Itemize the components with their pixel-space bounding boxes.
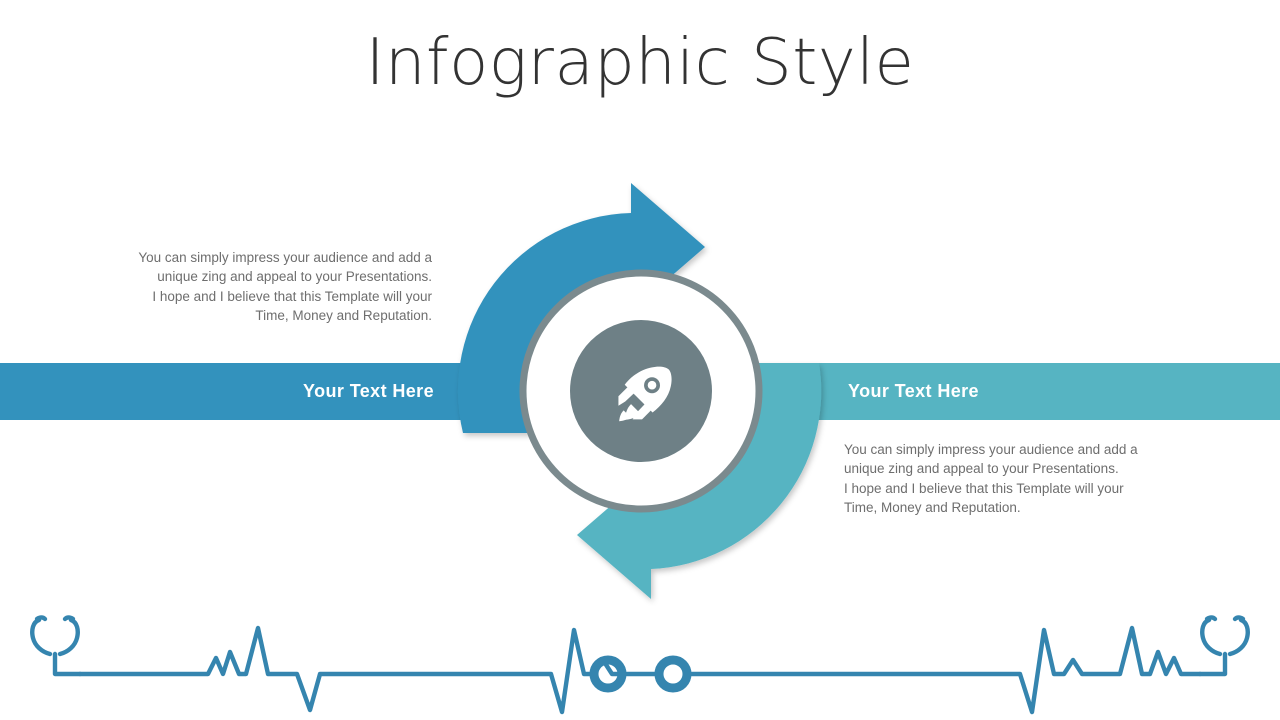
earbud-left: [594, 660, 622, 688]
paragraph-left: You can simply impress your audience and…: [75, 248, 432, 326]
band-right-label: Your Text Here: [848, 363, 979, 420]
ecg-trace-left: [80, 628, 660, 712]
stethoscope-icon: [32, 618, 80, 675]
cycle-diagram: [441, 171, 841, 611]
slide-canvas: Infographic Style Your Text Here Your Te…: [0, 0, 1280, 720]
stethoscope-heartbeat-line: [0, 600, 1280, 720]
band-left-label: Your Text Here: [303, 363, 434, 420]
earbud-right: [659, 660, 687, 688]
stethoscope-icon: [1200, 618, 1248, 675]
page-title: Infographic Style: [0, 26, 1280, 102]
paragraph-right: You can simply impress your audience and…: [844, 440, 1174, 518]
ecg-trace-right: [690, 628, 1200, 712]
